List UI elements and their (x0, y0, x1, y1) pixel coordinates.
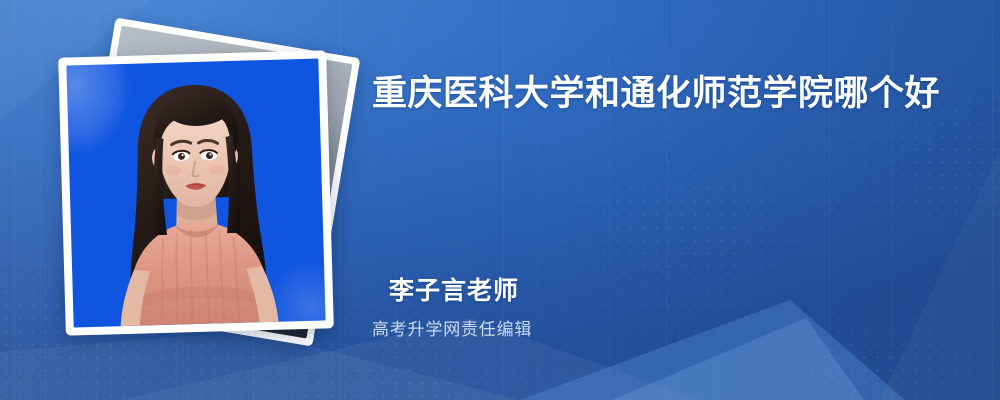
author-role: 高考升学网责任编辑 (372, 319, 952, 341)
photo-card-front (58, 50, 334, 335)
byline: 李子言老师 高考升学网责任编辑 (372, 276, 952, 341)
article-cover-card: 重庆医科大学和通化师范学院哪个好 李子言老师 高考升学网责任编辑 (0, 0, 1000, 400)
page-title: 重庆医科大学和通化师范学院哪个好 (372, 66, 952, 123)
cover-text-column: 重庆医科大学和通化师范学院哪个好 李子言老师 高考升学网责任编辑 (372, 0, 972, 400)
portrait-illustration (66, 59, 325, 328)
author-name: 李子言老师 (389, 276, 952, 306)
photo-card-stack (52, 28, 352, 368)
author-photo (66, 59, 325, 328)
